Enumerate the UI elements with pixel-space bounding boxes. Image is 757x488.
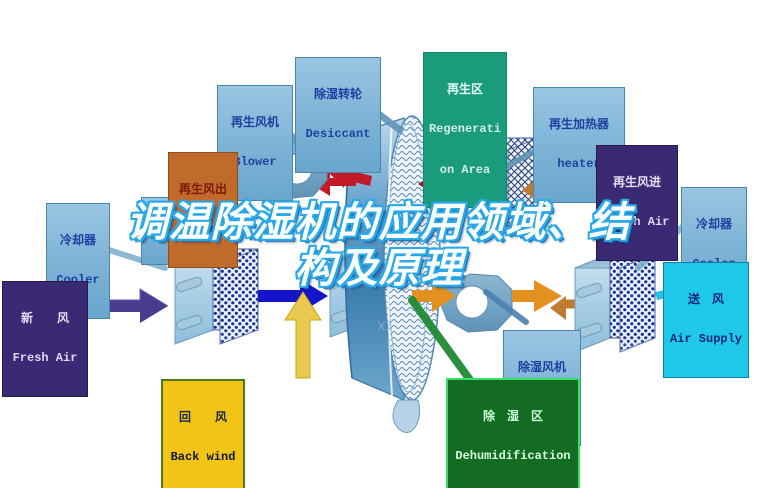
label-exhaust: 再生风出 Exhaust — [168, 152, 238, 268]
label-desiccant-wheel: 除湿转轮 Desiccant — [295, 57, 381, 173]
label-regeneration-area: 再生区 Regenerati on Area — [423, 52, 507, 208]
label-exhaust-en: Exhaust — [173, 223, 233, 236]
label-back-wind-en: Back wind — [167, 451, 239, 464]
label-fresh-air-inlet: 新 风 Fresh Air — [2, 281, 88, 397]
cooling-coil-3 — [575, 254, 655, 352]
label-cooler-left-cn: 冷却器 — [51, 234, 105, 247]
label-dehumidification-district-cn: 除 湿 区 — [452, 410, 574, 423]
label-dehumidification-blower-cn: 除湿风机 — [508, 361, 576, 374]
label-desiccant-wheel-en: Desiccant — [300, 128, 376, 141]
label-exhaust-cn: 再生风出 — [173, 183, 233, 196]
label-regeneration-heater-cn: 再生加热器 — [538, 118, 620, 131]
label-dehumidification-district-en-line1: Dehumidification — [452, 450, 574, 463]
label-cooler-right-cn: 冷却器 — [686, 218, 742, 231]
label-regeneration-area-cn: 再生区 — [427, 83, 503, 96]
label-back-wind: 回 风 Back wind — [161, 379, 245, 488]
label-fresh-air-inlet-en: Fresh Air — [7, 352, 83, 365]
label-dehumidification-district: 除 湿 区 Dehumidification District — [446, 378, 580, 488]
label-regeneration-fresh-air-cn: 再生风进 — [601, 176, 673, 189]
dehumidifier-schematic-diagram: x1 除湿转轮 Desiccant 再生风机 Blower 再生区 Regene… — [0, 0, 757, 488]
label-air-supply-cn: 送 风 — [668, 293, 744, 306]
label-air-supply-en: Air Supply — [668, 333, 744, 346]
label-back-wind-cn: 回 风 — [167, 411, 239, 424]
label-desiccant-wheel-cn: 除湿转轮 — [300, 88, 376, 101]
label-regeneration-fresh-air-en: Fresh Air — [601, 216, 673, 229]
label-regeneration-blower-cn: 再生风机 — [222, 116, 288, 129]
return-air-arrow — [285, 292, 321, 378]
label-regeneration-area-en-line2: on Area — [427, 164, 503, 177]
label-regeneration-fresh-air: 再生风进 Fresh Air — [596, 145, 678, 261]
label-air-supply: 送 风 Air Supply — [663, 262, 749, 378]
label-fresh-air-inlet-cn: 新 风 — [7, 312, 83, 325]
svg-text:x1: x1 — [378, 317, 393, 333]
label-regeneration-area-en-line1: Regenerati — [427, 123, 503, 136]
